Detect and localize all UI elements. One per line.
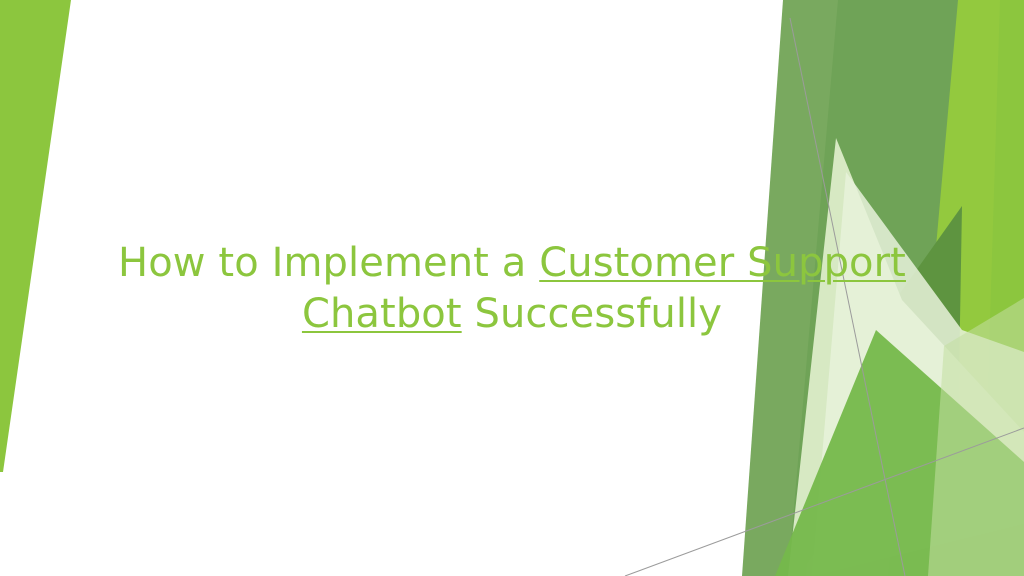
title-text-after: Successfully [462, 291, 722, 337]
shape-pale-lower-wedge [788, 138, 1024, 576]
shape-left-stripe [0, 0, 71, 472]
slide-title: How to Implement a Customer Support Chat… [112, 238, 912, 340]
thin-diagonal-lower-line [625, 428, 1024, 576]
title-text-before: How to Implement a [118, 240, 539, 286]
title-slide: How to Implement a Customer Support Chat… [0, 0, 1024, 576]
shape-paler-overlay [812, 172, 1024, 576]
shape-soft-highlight [928, 298, 1024, 576]
shape-right-bright-edge [982, 0, 1024, 576]
shape-leaf-lower-wedge [775, 330, 1024, 576]
